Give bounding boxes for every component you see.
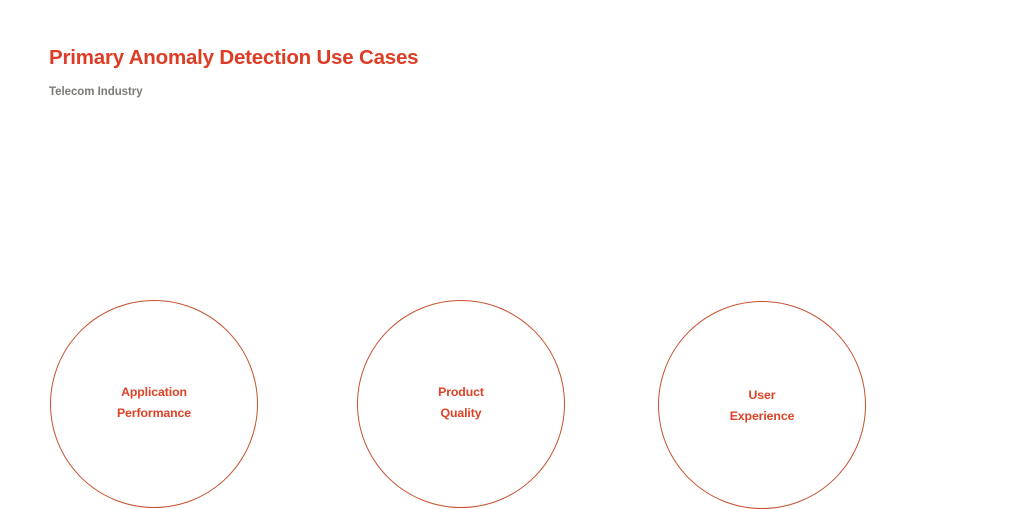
- slide-canvas: Primary Anomaly Detection Use Cases Tele…: [0, 0, 1024, 409]
- use-case-circle-user-experience[interactable]: User Experience: [658, 301, 866, 509]
- use-case-circle-row: Application Performance Product Quality …: [0, 150, 1024, 365]
- use-case-circle-product-quality[interactable]: Product Quality: [357, 300, 565, 508]
- slide-header: Primary Anomaly Detection Use Cases Tele…: [49, 45, 749, 100]
- use-case-label: User Experience: [677, 385, 847, 428]
- use-case-label: Application Performance: [69, 382, 239, 425]
- page-subtitle: Telecom Industry: [49, 84, 749, 100]
- page-title: Primary Anomaly Detection Use Cases: [49, 45, 749, 71]
- use-case-circle-application-performance[interactable]: Application Performance: [50, 300, 258, 508]
- use-case-label: Product Quality: [376, 382, 546, 425]
